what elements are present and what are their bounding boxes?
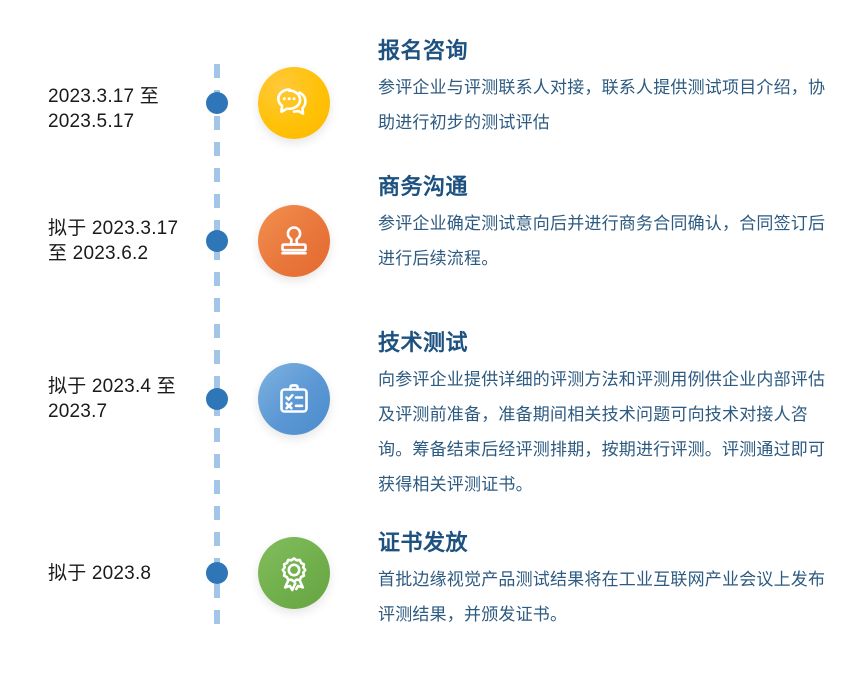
clipboard-checklist-icon bbox=[258, 363, 330, 435]
milestone-body-1: 参评企业与评测联系人对接，联系人提供测试项目介绍，协助进行初步的测试评估 bbox=[378, 70, 833, 140]
milestone-heading-2: 商务沟通 bbox=[378, 172, 833, 202]
milestone-heading-3: 技术测试 bbox=[378, 328, 833, 358]
chat-bubbles-icon bbox=[258, 67, 330, 139]
milestone-body-4: 首批边缘视觉产品测试结果将在工业互联网产业会议上发布评测结果，并颁发证书。 bbox=[378, 562, 833, 632]
timeline-dashed-rail bbox=[214, 64, 220, 636]
timeline-infographic: 2023.3.17 至 2023.5.17 报名咨询 参评企业与评测联系人对接，… bbox=[0, 0, 843, 688]
milestone-content-1: 报名咨询 参评企业与评测联系人对接，联系人提供测试项目介绍，协助进行初步的测试评… bbox=[378, 36, 833, 140]
milestone-date-3: 拟于 2023.4 至 2023.7 bbox=[10, 374, 190, 424]
milestone-dot-1 bbox=[206, 92, 228, 114]
milestone-content-4: 证书发放 首批边缘视觉产品测试结果将在工业互联网产业会议上发布评测结果，并颁发证… bbox=[378, 528, 833, 632]
milestone-body-3: 向参评企业提供详细的评测方法和评测用例供企业内部评估及评测前准备，准备期间相关技… bbox=[378, 362, 833, 502]
milestone-date-1: 2023.3.17 至 2023.5.17 bbox=[10, 84, 190, 134]
stamp-icon bbox=[258, 205, 330, 277]
milestone-body-2: 参评企业确定测试意向后并进行商务合同确认，合同签订后进行后续流程。 bbox=[378, 206, 833, 276]
milestone-dot-4 bbox=[206, 562, 228, 584]
milestone-date-4: 拟于 2023.8 bbox=[10, 561, 190, 586]
milestone-dot-3 bbox=[206, 388, 228, 410]
milestone-dot-2 bbox=[206, 230, 228, 252]
award-ribbon-icon bbox=[258, 537, 330, 609]
milestone-date-2: 拟于 2023.3.17 至 2023.6.2 bbox=[10, 216, 190, 266]
milestone-content-2: 商务沟通 参评企业确定测试意向后并进行商务合同确认，合同签订后进行后续流程。 bbox=[378, 172, 833, 276]
milestone-heading-4: 证书发放 bbox=[378, 528, 833, 558]
milestone-content-3: 技术测试 向参评企业提供详细的评测方法和评测用例供企业内部评估及评测前准备，准备… bbox=[378, 328, 833, 502]
milestone-heading-1: 报名咨询 bbox=[378, 36, 833, 66]
